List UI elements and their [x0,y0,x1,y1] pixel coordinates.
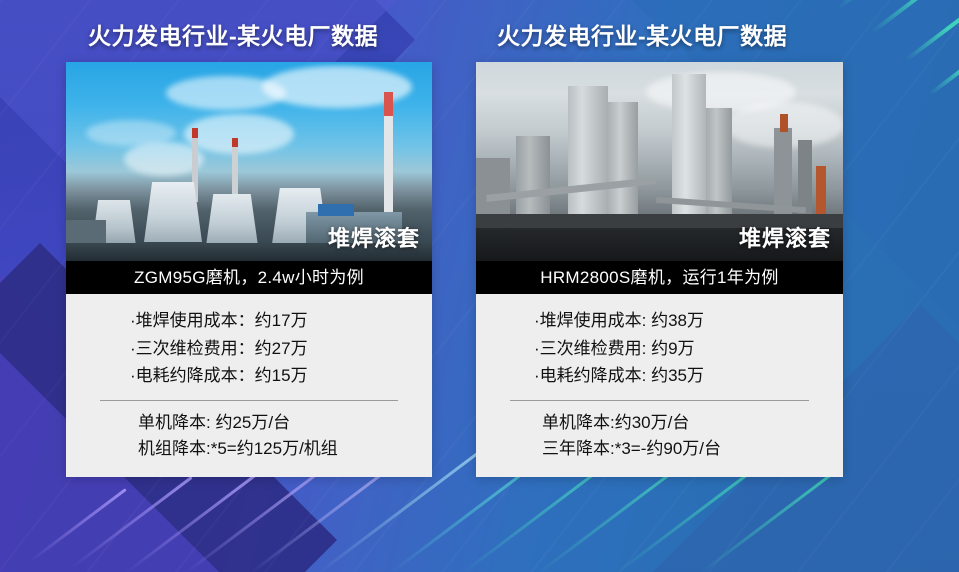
chimney-2-cap [232,138,238,147]
list-item: ·三次维检费用: 约9万 [476,335,843,363]
card-title-left: 火力发电行业-某火电厂数据 [88,17,378,51]
list-item: ·电耗约降成本: 约35万 [476,362,843,390]
card-title-right: 火力发电行业-某火电厂数据 [497,17,787,51]
card-subtitle-left: ZGM95G磨机，2.4w小时为例 [66,261,432,294]
slide-canvas: 火力发电行业-某火电厂数据 堆 [0,0,959,572]
silo-3 [672,74,706,236]
list-item: ·电耗约降成本：约15万 [66,362,432,390]
card-body-right: ·堆焊使用成本: 约38万 ·三次维检费用: 约9万 ·电耗约降成本: 约35万… [476,294,843,477]
list-item: ·堆焊使用成本: 约38万 [476,307,843,335]
list-item: 机组降本:*5=约125万/机组 [66,436,432,463]
cooling-tower-2 [206,194,258,246]
card-body-left: ·堆焊使用成本：约17万 ·三次维检费用：约27万 ·电耗约降成本：约15万 单… [66,294,432,477]
list-item: ·三次维检费用：约27万 [66,335,432,363]
photo-overlay-label-left: 堆焊滚套 [328,221,420,253]
data-card-left: 堆焊滚套 ZGM95G磨机，2.4w小时为例 ·堆焊使用成本：约17万 ·三次维… [66,62,432,477]
data-card-right: 堆焊滚套 HRM2800S磨机，运行1年为例 ·堆焊使用成本: 约38万 ·三次… [476,62,843,477]
list-item: 三年降本:*3=-约90万/台 [476,436,843,463]
section-divider-right [510,400,809,401]
cost-bullet-list-left: ·堆焊使用成本：约17万 ·三次维检费用：约27万 ·电耗约降成本：约15万 [66,307,432,390]
plant-building-roof [318,204,354,216]
card-subtitle-right: HRM2800S磨机，运行1年为例 [476,261,843,294]
chimney-1-cap [192,128,198,138]
orange-marker-1 [780,114,788,132]
summary-list-right: 单机降本:约30万/台 三年降本:*3=-约90万/台 [476,410,843,464]
list-item: 单机降本: 约25万/台 [66,410,432,437]
steam-plume-1 [184,114,294,154]
chimney-tall-cap [384,92,393,116]
list-item: ·堆焊使用成本：约17万 [66,307,432,335]
section-divider-left [100,400,398,401]
summary-list-left: 单机降本: 约25万/台 机组降本:*5=约125万/机组 [66,410,432,464]
list-item: 单机降本:约30万/台 [476,410,843,437]
cooling-tower-1 [144,182,202,242]
cost-bullet-list-right: ·堆焊使用成本: 约38万 ·三次维检费用: 约9万 ·电耗约降成本: 约35万 [476,307,843,390]
card-photo-left: 堆焊滚套 [66,62,432,261]
card-photo-right: 堆焊滚套 [476,62,843,261]
photo-overlay-label-right: 堆焊滚套 [739,221,831,253]
